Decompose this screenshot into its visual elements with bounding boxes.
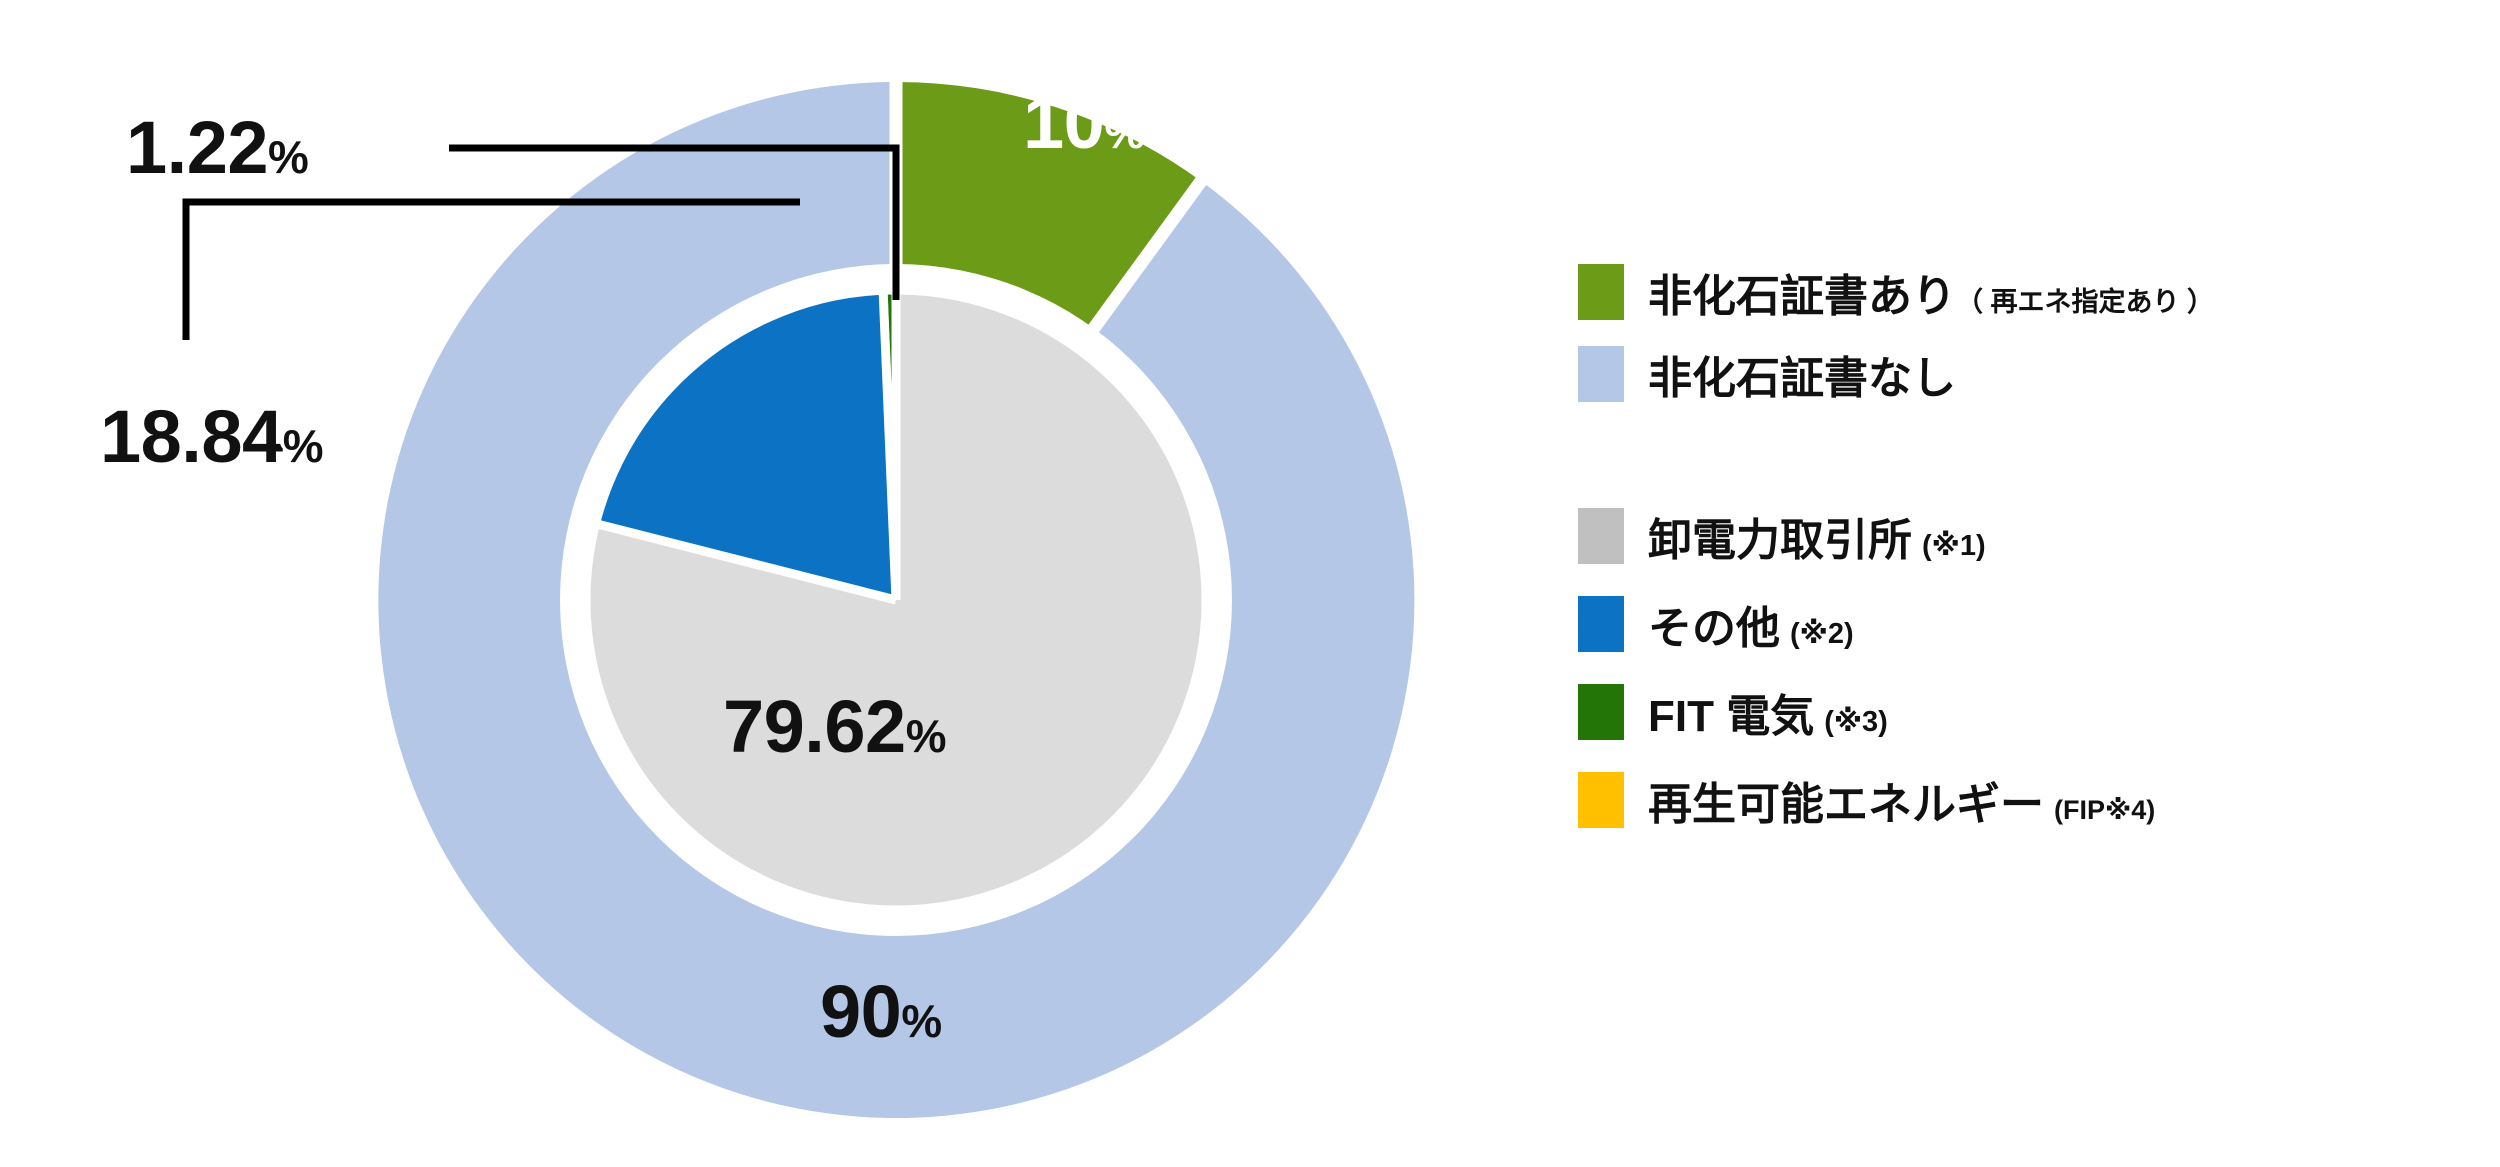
legend-note-fit-power: (※3) [1824,704,1888,739]
data-label-callout-fit-power-value: 1.22 [126,106,268,189]
legend-item-non-fossil-with-cert[interactable]: 非化石証書あり （ 再エネ指定あり ） [1578,262,2214,322]
data-label-inner-gray-symbol: % [906,710,946,762]
legend-swatch-other [1578,596,1624,652]
legend-note-wholesale-market: (※1) [1922,528,1986,563]
legend-item-other[interactable]: その他 (※2) [1578,594,2155,654]
legend-note-other: (※2) [1790,616,1854,651]
legend-swatch-fit-power [1578,684,1624,740]
legend-text-renewable-energy: 再生可能エネルギー (FIP※4) [1648,768,2155,832]
data-label-callout-fit-power: 1.22% [126,111,308,185]
legend-swatch-renewable-energy [1578,772,1624,828]
legend-label-wholesale-market: 卸電力取引所 [1648,504,1912,568]
legend-label-fit-power: FIT 電気 [1648,680,1814,744]
data-label-callout-other-symbol: % [283,420,323,472]
data-label-callout-other-value: 18.84 [100,395,283,478]
data-label-inner-gray: 79.62% [723,690,946,764]
legend-item-renewable-energy[interactable]: 再生可能エネルギー (FIP※4) [1578,770,2155,830]
data-label-outer-blue-value: 90 [820,970,901,1053]
legend-label-non-fossil-with-cert: 非化石証書あり [1648,260,1956,324]
legend-text-other: その他 (※2) [1648,592,1854,656]
legend-label-renewable-energy: 再生可能エネルギー [1648,768,2044,832]
legend-text-wholesale-market: 卸電力取引所 (※1) [1648,504,1986,568]
legend-note-renewable-energy: (FIP※4) [2054,795,2155,826]
chart-legend: 非化石証書あり （ 再エネ指定あり ） 非化石証書なし 卸電力取引所 (※1) [1578,0,2500,1167]
legend-text-non-fossil-with-cert: 非化石証書あり （ 再エネ指定あり ） [1648,260,2214,324]
data-label-outer-green-symbol: % [1104,106,1144,158]
legend-group-outer: 非化石証書あり （ 再エネ指定あり ） 非化石証書なし [1578,262,2214,426]
pie-chart-page: 10% 90% 79.62% 1.22% 18.84% 非化石証書あり （ 再エ… [0,0,2500,1167]
legend-swatch-wholesale-market [1578,508,1624,564]
legend-note-non-fossil-with-cert: （ 再エネ指定あり ） [1956,280,2214,319]
data-label-callout-fit-power-symbol: % [268,131,308,183]
inner-pie-group [584,288,1208,912]
data-label-outer-blue-symbol: % [901,995,941,1047]
data-label-callout-other: 18.84% [100,400,323,474]
legend-label-non-fossil-without-cert: 非化石証書なし [1648,342,1956,406]
data-label-inner-gray-value: 79.62 [723,685,906,768]
legend-group-inner: 卸電力取引所 (※1) その他 (※2) FIT 電気 (※3) [1578,506,2155,858]
legend-text-fit-power: FIT 電気 (※3) [1648,680,1888,744]
data-label-outer-green: 10% [1023,86,1145,160]
legend-swatch-non-fossil-with-cert [1578,264,1624,320]
legend-label-other: その他 [1648,592,1780,656]
legend-swatch-non-fossil-without-cert [1578,346,1624,402]
legend-item-fit-power[interactable]: FIT 電気 (※3) [1578,682,2155,742]
legend-text-non-fossil-without-cert: 非化石証書なし [1648,342,1956,406]
legend-item-wholesale-market[interactable]: 卸電力取引所 (※1) [1578,506,2155,566]
data-label-outer-green-value: 10 [1023,81,1104,164]
legend-item-non-fossil-without-cert[interactable]: 非化石証書なし [1578,344,2214,404]
data-label-outer-blue: 90% [820,975,942,1049]
chart-area: 10% 90% 79.62% 1.22% 18.84% [0,0,1540,1167]
